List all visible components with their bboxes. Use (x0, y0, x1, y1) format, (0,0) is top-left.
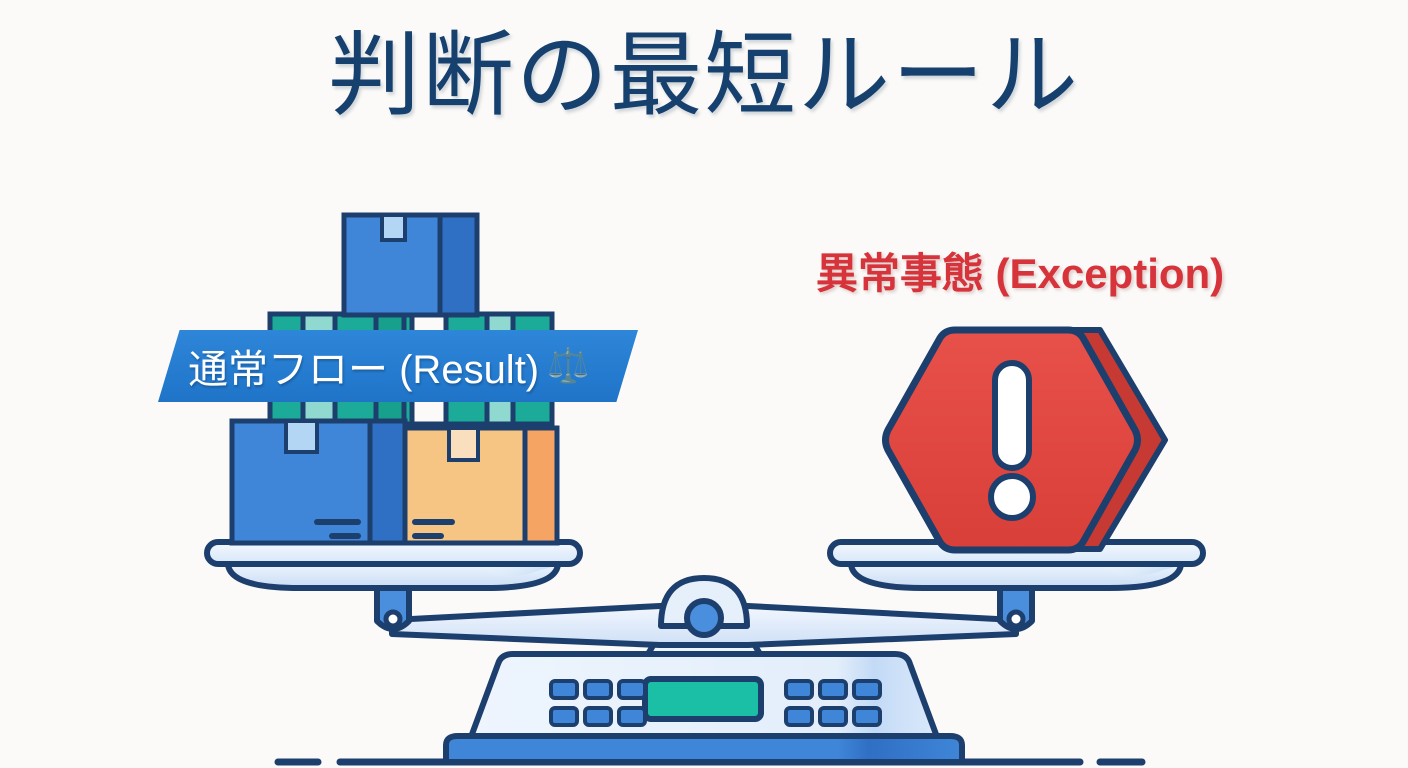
fulcrum (661, 578, 747, 635)
exclamation-bar (995, 363, 1029, 468)
result-banner: 通常フロー (Result) ⚖️ (158, 330, 638, 402)
tape-tab-icon (382, 215, 405, 240)
tape-tab-icon (286, 421, 317, 452)
result-banner-label: 通常フロー (Result) (188, 337, 539, 395)
tape-tab-icon (449, 428, 478, 460)
warning-hexagon-icon (886, 330, 1166, 550)
exception-label: 異常事態 (Exception) (790, 240, 1250, 301)
box-bottom-blue (232, 421, 405, 543)
box-bottom-orange (405, 428, 557, 543)
exclamation-dot (991, 476, 1033, 518)
box-top-blue (344, 215, 477, 315)
pivot-point (687, 601, 721, 635)
lcd-display (645, 679, 761, 719)
illustration-canvas: 判断の最短ルール (0, 0, 1408, 768)
balance-scale-icon: ⚖️ (547, 346, 589, 386)
left-pan (207, 542, 580, 588)
